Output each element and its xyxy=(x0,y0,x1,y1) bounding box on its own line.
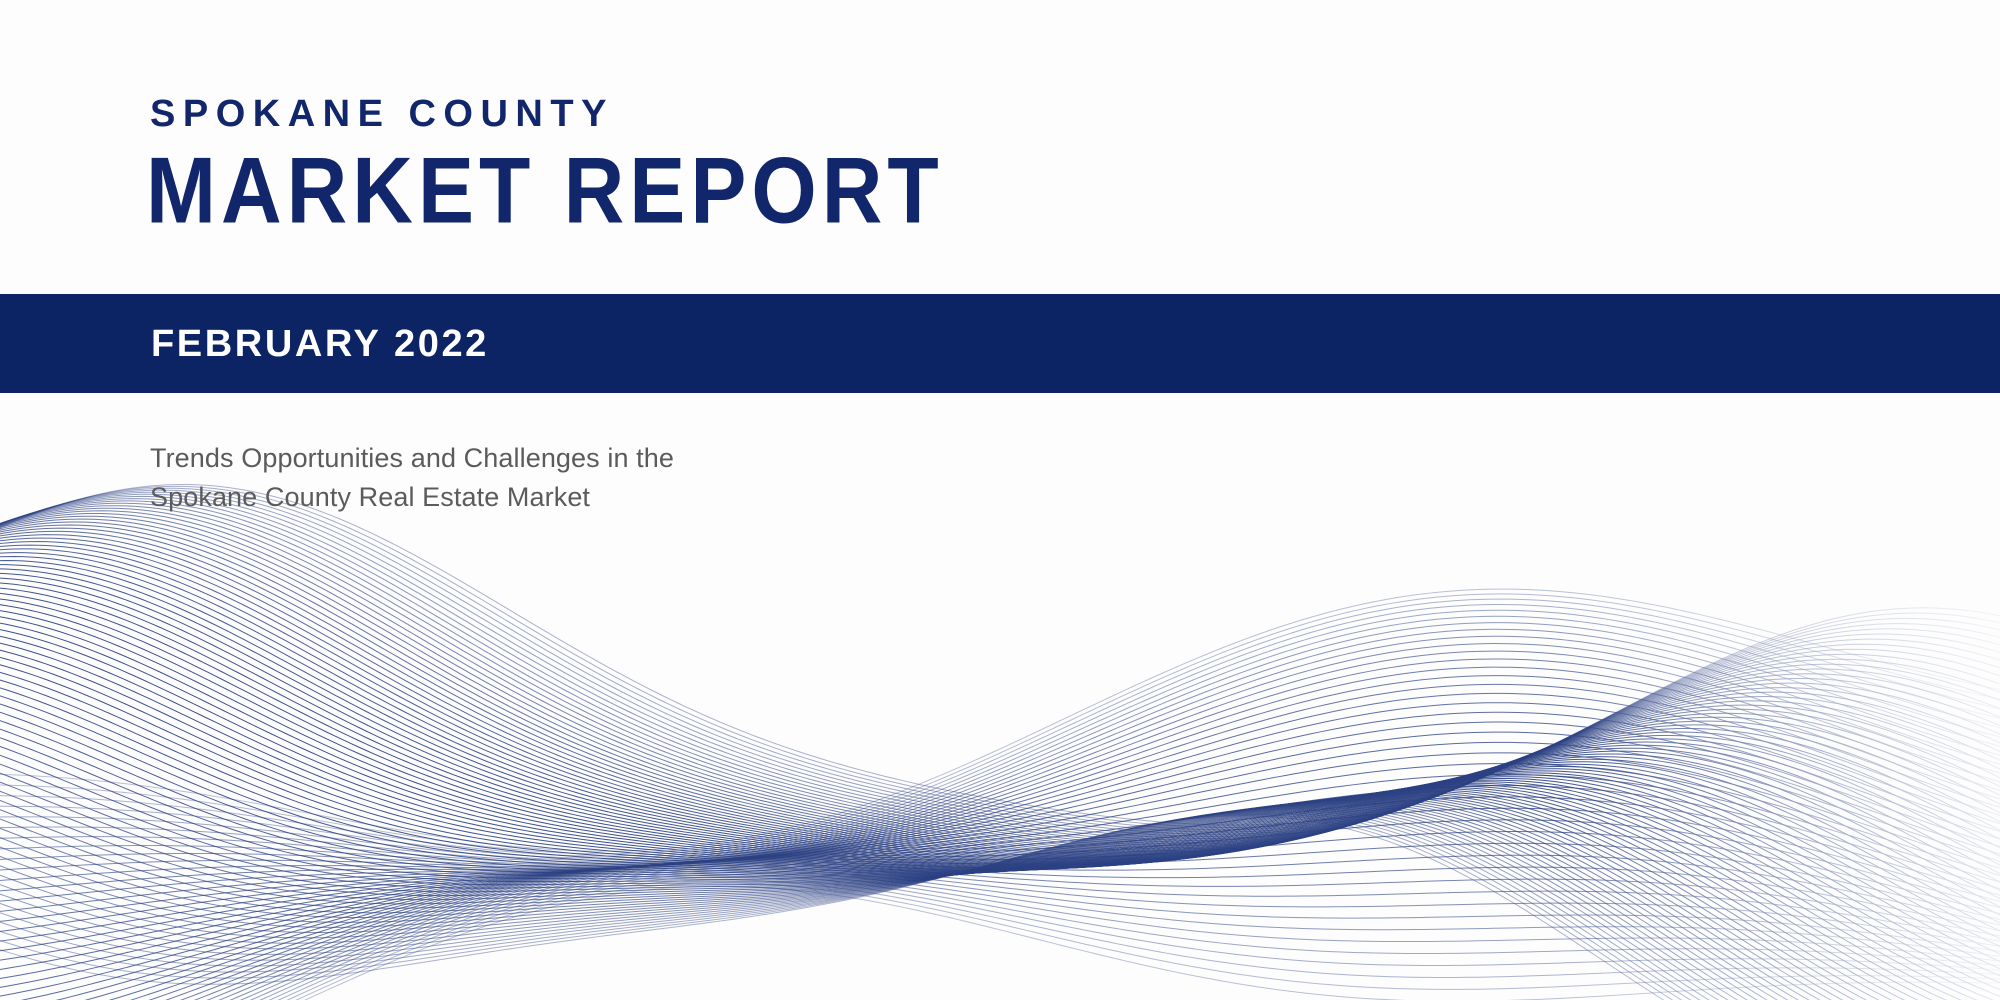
wave-line xyxy=(0,769,2000,1000)
wave-line xyxy=(0,598,2000,910)
wave-line xyxy=(0,488,2000,830)
wave-line xyxy=(0,519,2000,853)
wave-line xyxy=(0,870,2000,1000)
wave-line xyxy=(0,655,2000,978)
wave-line xyxy=(0,800,2000,1000)
wave-line xyxy=(0,569,2000,866)
wave-line xyxy=(0,863,2000,1000)
wave-line xyxy=(0,717,2000,1000)
date-banner-label: FEBRUARY 2022 xyxy=(151,325,489,363)
wave-line xyxy=(0,802,2000,1000)
wave-line xyxy=(0,629,2000,864)
date-banner: FEBRUARY 2022 xyxy=(0,294,2000,393)
wave-line xyxy=(0,525,2000,856)
wave-line xyxy=(0,864,2000,1000)
wave-line xyxy=(0,808,2000,1000)
wave-line xyxy=(0,553,2000,864)
wave-line xyxy=(0,880,2000,1000)
wave-line xyxy=(0,582,2000,885)
wave-line xyxy=(0,787,2000,1000)
wave-line xyxy=(0,820,2000,1000)
wave-line xyxy=(0,743,2000,1000)
wave-line xyxy=(0,605,2000,859)
wave-line xyxy=(0,644,2000,871)
wave-line xyxy=(0,786,2000,1000)
wave-line xyxy=(0,872,2000,1000)
wave-line xyxy=(0,709,2000,1000)
wave-line xyxy=(0,797,2000,1000)
wave-line xyxy=(0,877,2000,1000)
wave-line xyxy=(0,659,2000,892)
wave-line xyxy=(0,592,2000,901)
wave-line xyxy=(0,506,2000,846)
wave-line xyxy=(0,701,2000,1000)
wave-line xyxy=(0,732,2000,971)
wave-line xyxy=(0,516,2000,852)
wave-line xyxy=(0,814,2000,1000)
wave-line xyxy=(0,813,2000,1000)
wave-line xyxy=(0,760,2000,1000)
wave-line xyxy=(0,621,2000,941)
wave-line xyxy=(0,883,2000,1000)
wave-line xyxy=(0,804,2000,1000)
wave-line xyxy=(0,545,2000,862)
wave-line xyxy=(0,801,2000,1000)
wave-line xyxy=(0,806,2000,1000)
wave-line xyxy=(0,886,2000,1000)
wave-line xyxy=(0,676,2000,913)
wave-line xyxy=(0,805,2000,1000)
wave-line xyxy=(0,808,2000,1000)
wave-line xyxy=(0,542,2000,861)
wave-line xyxy=(0,651,2000,881)
wave-line xyxy=(0,667,2000,902)
wave-line xyxy=(0,693,2000,1000)
subtitle-text: Trends Opportunities and Challenges in t… xyxy=(150,439,674,517)
wave-line xyxy=(0,531,2000,858)
wave-line xyxy=(0,522,2000,855)
wave-line xyxy=(0,599,2000,856)
wave-line xyxy=(0,486,2000,827)
wave-line xyxy=(0,703,2000,943)
wave-line xyxy=(0,722,2000,962)
wave-line xyxy=(0,810,2000,1000)
wave-line xyxy=(0,511,2000,849)
wave-line xyxy=(0,494,2000,836)
wave-line xyxy=(0,764,2000,998)
eyebrow-county-label: SPOKANE COUNTY xyxy=(150,95,614,133)
wave-line xyxy=(0,616,2000,861)
wave-line xyxy=(0,513,2000,850)
wave-line xyxy=(0,812,2000,1000)
wave-line xyxy=(0,610,2000,860)
wave-line xyxy=(0,693,2000,932)
wave-line xyxy=(0,742,2000,980)
wave-line xyxy=(0,609,2000,926)
wave-line xyxy=(0,868,2000,1000)
wave-line xyxy=(0,753,2000,989)
wave-line xyxy=(0,811,2000,1000)
wave-line xyxy=(0,641,2000,964)
wave-line xyxy=(0,867,2000,1000)
wave-line xyxy=(0,501,2000,842)
page-title: MARKET REPORT xyxy=(146,143,944,237)
wave-line xyxy=(0,492,2000,834)
wave-line xyxy=(0,685,2000,1000)
wave-line xyxy=(0,628,2000,950)
wave-line xyxy=(0,874,2000,1000)
wave-line xyxy=(0,775,2000,1000)
wave-line xyxy=(0,803,2000,1000)
wave-line xyxy=(0,797,2000,1000)
wave-line xyxy=(0,561,2000,865)
wave-line xyxy=(0,726,2000,1000)
wave-line xyxy=(0,623,2000,864)
wave-line xyxy=(0,684,2000,922)
wave-line xyxy=(0,603,2000,918)
wave-line xyxy=(0,499,2000,841)
wave-line xyxy=(0,508,2000,847)
wave-line xyxy=(0,549,2000,863)
wave-line xyxy=(0,778,2000,1000)
wave-line xyxy=(0,528,2000,857)
wave-line xyxy=(0,490,2000,832)
wave-line xyxy=(0,503,2000,844)
wave-line xyxy=(0,594,2000,854)
wave-line xyxy=(0,807,2000,1000)
wave-line xyxy=(0,557,2000,864)
wave-line xyxy=(0,565,2000,866)
wave-line xyxy=(0,677,2000,998)
wave-line xyxy=(0,712,2000,952)
wave-line xyxy=(0,573,2000,868)
wave-line xyxy=(0,734,2000,1000)
wave-line xyxy=(0,865,2000,1000)
wave-line xyxy=(0,800,2000,1000)
wave-line xyxy=(0,484,2000,825)
wave-line xyxy=(0,589,2000,851)
wave-line xyxy=(0,587,2000,893)
wave-line xyxy=(0,662,2000,985)
wave-line xyxy=(0,496,2000,838)
report-cover-page: SPOKANE COUNTY MARKET REPORT FEBRUARY 20… xyxy=(0,0,2000,1000)
wave-line xyxy=(0,816,2000,1000)
wave-line xyxy=(0,752,2000,1000)
wave-line xyxy=(0,670,2000,992)
wave-line xyxy=(0,648,2000,971)
wave-line xyxy=(0,535,2000,859)
wave-line xyxy=(0,636,2000,866)
wave-line xyxy=(0,578,2000,877)
wave-line xyxy=(0,832,2000,1000)
wave-line xyxy=(0,843,2000,1000)
wave-line xyxy=(0,615,2000,934)
wave-line xyxy=(0,538,2000,860)
wave-line xyxy=(0,855,2000,1000)
wave-line xyxy=(0,634,2000,956)
